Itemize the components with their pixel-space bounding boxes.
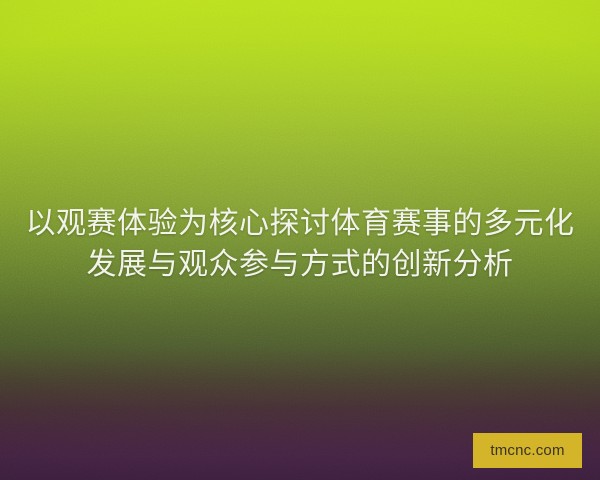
promo-banner: 以观赛体验为核心探讨体育赛事的多元化 发展与观众参与方式的创新分析 tmcnc.… — [0, 0, 600, 480]
banner-headline: 以观赛体验为核心探讨体育赛事的多元化 发展与观众参与方式的创新分析 — [0, 203, 600, 285]
watermark-badge: tmcnc.com — [473, 433, 582, 468]
watermark-label: tmcnc.com — [490, 443, 564, 458]
